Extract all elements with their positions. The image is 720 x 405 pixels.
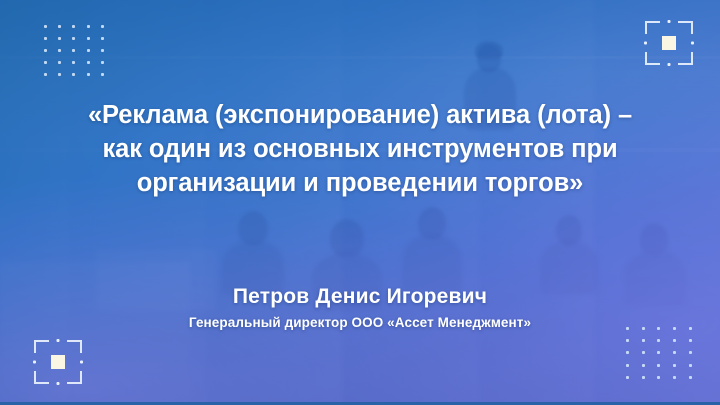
bracket-corner-top-right: [678, 21, 693, 34]
dot: [72, 49, 75, 52]
dot: [642, 364, 645, 367]
bracket-edge-dot-right: [80, 361, 83, 364]
dot: [689, 351, 692, 354]
dot: [58, 49, 61, 52]
bracket-corner-top-left: [34, 340, 49, 353]
bracket-edge-dot-left: [644, 42, 647, 45]
bracket-corner-bottom-right: [678, 52, 693, 65]
bracket-center-square: [51, 355, 65, 369]
dot: [58, 61, 61, 64]
dot: [642, 351, 645, 354]
dot: [657, 351, 660, 354]
bracket-corner-top-right: [67, 340, 82, 353]
bracket-edge-dot-bottom: [668, 63, 671, 66]
dot: [58, 73, 61, 76]
bracket-corner-top-left: [645, 21, 660, 34]
dot: [101, 73, 104, 76]
dot: [44, 37, 47, 40]
dot: [58, 37, 61, 40]
dot: [44, 49, 47, 52]
dot: [72, 61, 75, 64]
dot: [626, 376, 629, 379]
dot: [87, 61, 90, 64]
slide-title-line-2: как один из основных инструментов при: [30, 132, 690, 166]
speaker-name: Петров Денис Игоревич: [20, 284, 700, 310]
dot: [72, 25, 75, 28]
dot: [673, 351, 676, 354]
dot: [673, 339, 676, 342]
dot: [44, 73, 47, 76]
speaker-attribution: Петров Денис Игоревич Генеральный директ…: [0, 284, 720, 333]
bracket-corner-bottom-right: [67, 371, 82, 384]
dot: [626, 339, 629, 342]
slide-title-line-3: организации и проведении торгов»: [30, 166, 690, 200]
bracket-edge-dot-left: [33, 361, 36, 364]
dot: [72, 37, 75, 40]
dot: [657, 364, 660, 367]
dot: [87, 73, 90, 76]
slide-title-line-1: «Реклама (экспонирование) актива (лота) …: [30, 98, 690, 132]
dot: [673, 364, 676, 367]
dot: [87, 49, 90, 52]
dot: [689, 339, 692, 342]
bracket-center-square: [662, 36, 676, 50]
slide-title: «Реклама (экспонирование) актива (лота) …: [0, 98, 720, 200]
bracket-frame-icon-bottom-left: [34, 340, 82, 384]
dot: [689, 364, 692, 367]
dot: [101, 49, 104, 52]
bracket-frame-icon-top-right: [645, 21, 693, 65]
bracket-corner-bottom-left: [34, 371, 49, 384]
presentation-title-slide: «Реклама (экспонирование) актива (лота) …: [0, 0, 720, 405]
dot: [626, 364, 629, 367]
dot: [657, 376, 660, 379]
dot: [44, 61, 47, 64]
dot: [101, 25, 104, 28]
dot: [673, 376, 676, 379]
dot: [657, 339, 660, 342]
dot: [626, 351, 629, 354]
bracket-edge-dot-right: [691, 42, 694, 45]
bracket-edge-dot-top: [668, 20, 671, 23]
dot: [101, 37, 104, 40]
dot: [72, 73, 75, 76]
dot: [44, 25, 47, 28]
speaker-role: Генеральный директор ООО «Ассет Менеджме…: [20, 313, 700, 333]
dot: [101, 61, 104, 64]
dot: [642, 376, 645, 379]
bracket-corner-bottom-left: [645, 52, 660, 65]
dot: [58, 25, 61, 28]
dot: [642, 339, 645, 342]
dot: [87, 25, 90, 28]
dot: [87, 37, 90, 40]
dot-grid-icon-top-left: [38, 20, 110, 80]
bracket-edge-dot-top: [57, 339, 60, 342]
dot: [689, 376, 692, 379]
bracket-edge-dot-bottom: [57, 382, 60, 385]
